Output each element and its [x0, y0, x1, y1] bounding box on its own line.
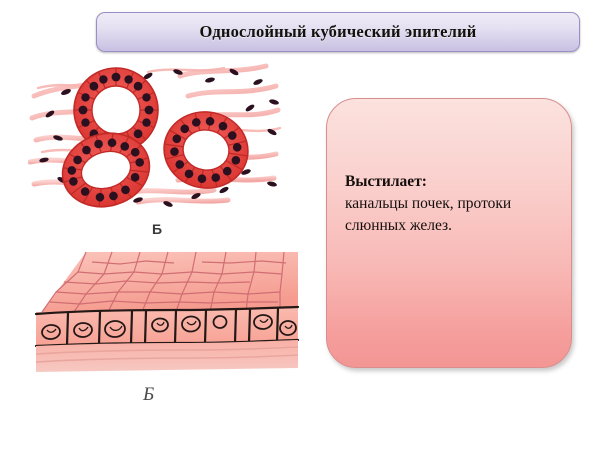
micrograph-illustration: [28, 62, 282, 214]
cuboidal-cell-row: [36, 307, 298, 346]
schematic-illustration: [34, 250, 300, 375]
info-card-lead: Выстилает:: [345, 171, 557, 193]
micrograph-label: Б: [152, 221, 162, 237]
slide-title-banner: Однослойный кубический эпителий: [96, 12, 580, 52]
info-card: Выстилает: канальцы почек, протоки слюнн…: [326, 98, 572, 368]
info-card-text: Выстилает: канальцы почек, протоки слюнн…: [345, 171, 557, 237]
info-card-body: канальцы почек, протоки слюнных желез.: [345, 193, 557, 237]
page-title: Однослойный кубический эпителий: [97, 13, 579, 51]
micrograph-figure: [28, 62, 282, 214]
slide-canvas: Однослойный кубический эпителий: [0, 0, 600, 450]
schematic-figure: [34, 250, 300, 375]
schematic-label: Б: [143, 384, 154, 406]
